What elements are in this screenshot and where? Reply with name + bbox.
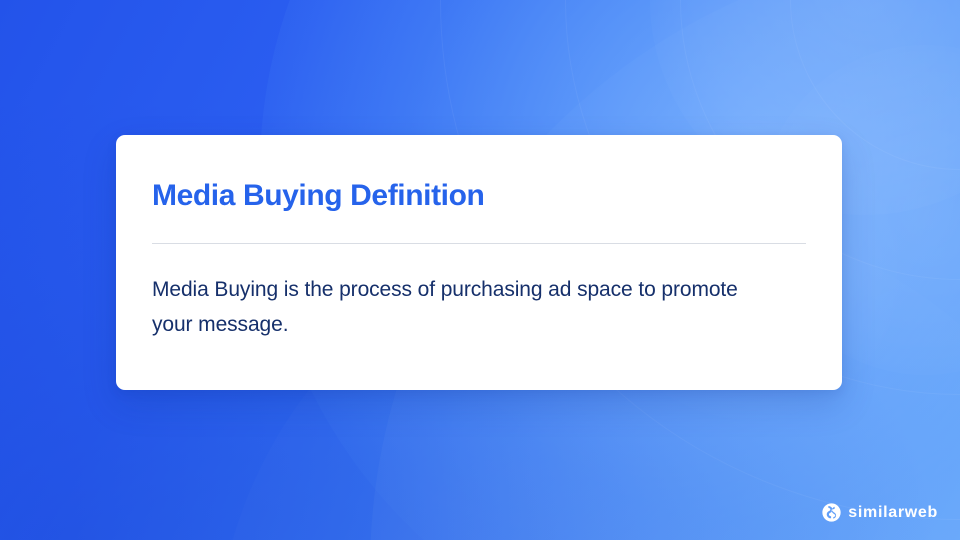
similarweb-logo: similarweb (822, 503, 938, 522)
card-divider (152, 243, 806, 244)
definition-card: Media Buying Definition Media Buying is … (116, 135, 842, 390)
similarweb-swirl-icon (822, 503, 841, 522)
slide-canvas: Media Buying Definition Media Buying is … (0, 0, 960, 540)
card-body-text: Media Buying is the process of purchasin… (152, 272, 752, 342)
card-title: Media Buying Definition (152, 179, 484, 213)
similarweb-wordmark: similarweb (848, 504, 938, 522)
